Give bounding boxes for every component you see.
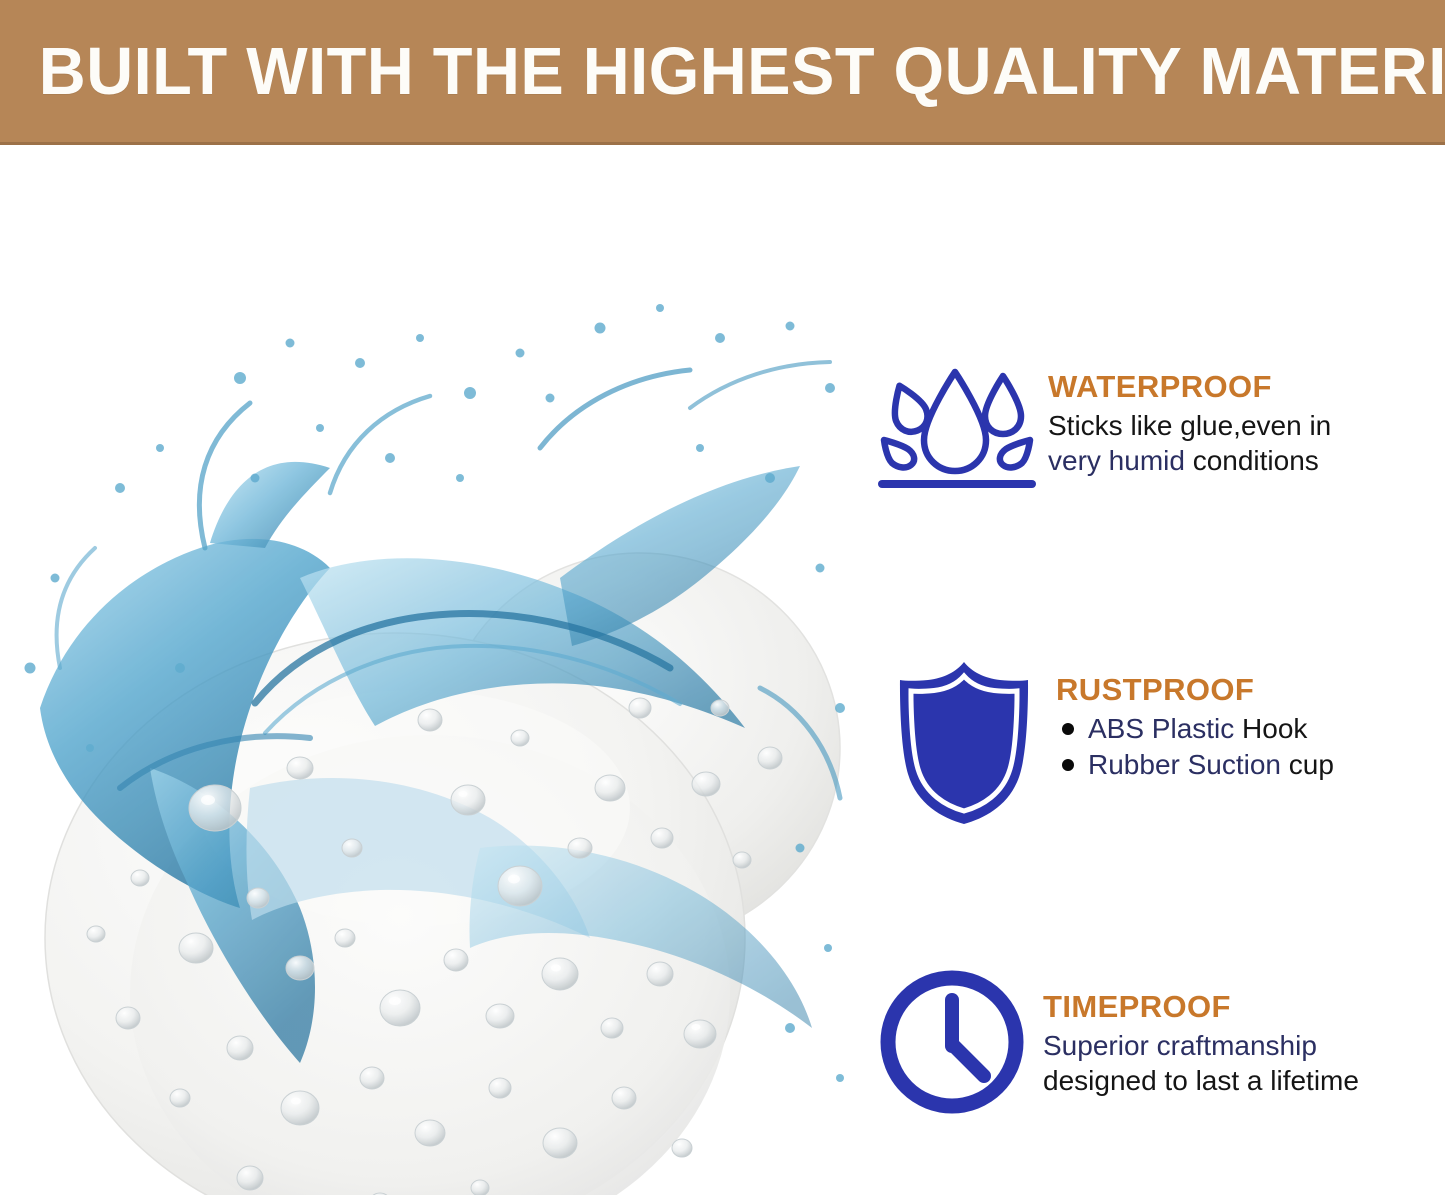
product-photo-illustration: [0, 148, 860, 1195]
bullet-1-dark: Hook: [1234, 713, 1307, 744]
feature-rustproof: RUSTPROOF ABS Plastic Hook Rubber Suctio…: [894, 656, 1445, 828]
header-banner: BUILT WITH THE HIGHEST QUALITY MATERIALS: [0, 0, 1445, 145]
water-droplets-icon: [872, 358, 1042, 490]
feature-waterproof-body-line1: Sticks like glue,even in: [1048, 410, 1331, 441]
feature-waterproof: WATERPROOF Sticks like glue,even in very…: [872, 358, 1445, 490]
feature-waterproof-body-line2-dark: conditions: [1185, 445, 1319, 476]
clock-icon: [876, 966, 1028, 1118]
product-photo: [0, 148, 860, 1195]
list-item: Rubber Suction cup: [1056, 747, 1445, 783]
feature-waterproof-text: WATERPROOF Sticks like glue,even in very…: [1048, 358, 1445, 478]
bullet-dot-icon: [1062, 759, 1074, 771]
bullet-1-blue: ABS Plastic: [1088, 713, 1234, 744]
feature-timeproof: TIMEPROOF Superior craftmanship designed…: [876, 966, 1445, 1118]
feature-waterproof-heading: WATERPROOF: [1048, 371, 1445, 404]
page-title: BUILT WITH THE HIGHEST QUALITY MATERIALS: [0, 38, 1445, 105]
bullet-dot-icon: [1062, 723, 1074, 735]
feature-rustproof-text: RUSTPROOF ABS Plastic Hook Rubber Suctio…: [1056, 656, 1445, 783]
feature-rustproof-bullets: ABS Plastic Hook Rubber Suction cup: [1056, 711, 1445, 784]
list-item: ABS Plastic Hook: [1056, 711, 1445, 747]
shield-icon: [894, 656, 1034, 828]
feature-list: WATERPROOF Sticks like glue,even in very…: [866, 148, 1445, 1195]
infographic-page: BUILT WITH THE HIGHEST QUALITY MATERIALS: [0, 0, 1445, 1195]
feature-timeproof-body-line2: designed to last a lifetime: [1043, 1065, 1359, 1096]
feature-timeproof-text: TIMEPROOF Superior craftmanship designed…: [1043, 966, 1445, 1098]
bullet-2-dark: cup: [1281, 749, 1334, 780]
feature-rustproof-heading: RUSTPROOF: [1056, 674, 1445, 707]
feature-timeproof-heading: TIMEPROOF: [1043, 991, 1445, 1024]
feature-timeproof-body-line1: Superior craftmanship: [1043, 1030, 1317, 1061]
feature-timeproof-body: Superior craftmanship designed to last a…: [1043, 1028, 1445, 1099]
feature-waterproof-body-line2-blue: very humid: [1048, 445, 1185, 476]
feature-waterproof-body: Sticks like glue,even in very humid cond…: [1048, 408, 1445, 479]
bullet-2-blue: Rubber Suction: [1088, 749, 1281, 780]
